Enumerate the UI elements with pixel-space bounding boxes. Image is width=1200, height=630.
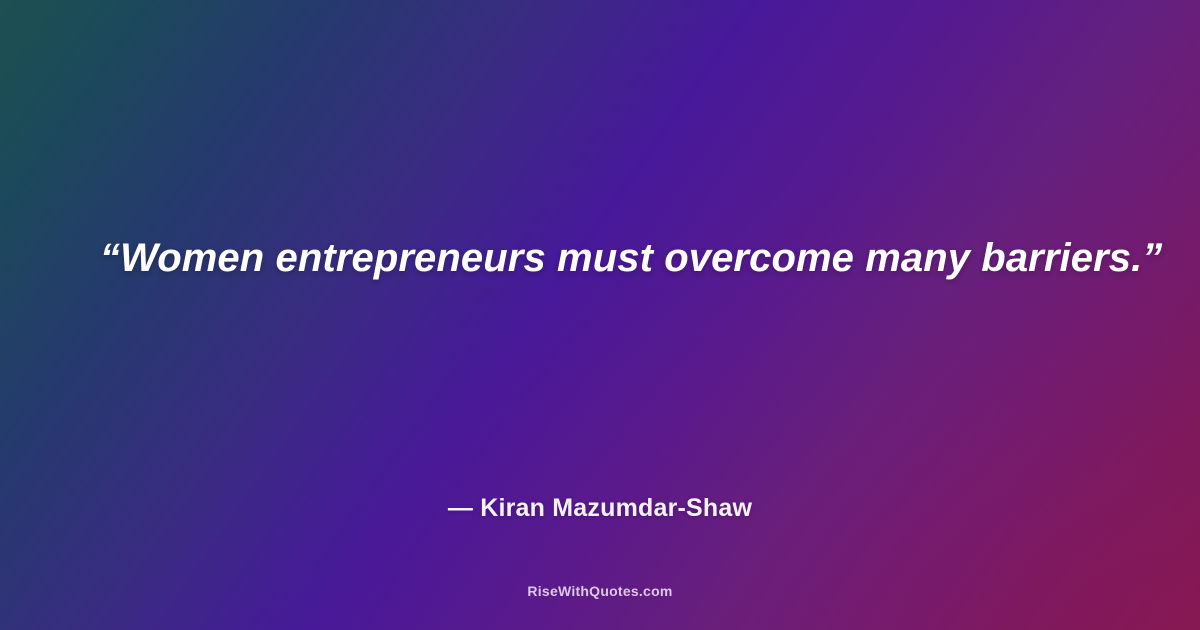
quote-card: “Women entrepreneurs must overcome many … [0, 0, 1200, 630]
quote-author: — Kiran Mazumdar-Shaw [150, 492, 1050, 524]
quote-text: “Women entrepreneurs must overcome many … [100, 232, 1100, 284]
site-watermark: RiseWithQuotes.com [300, 582, 900, 601]
quote-card-content: “Women entrepreneurs must overcome many … [0, 0, 1200, 630]
